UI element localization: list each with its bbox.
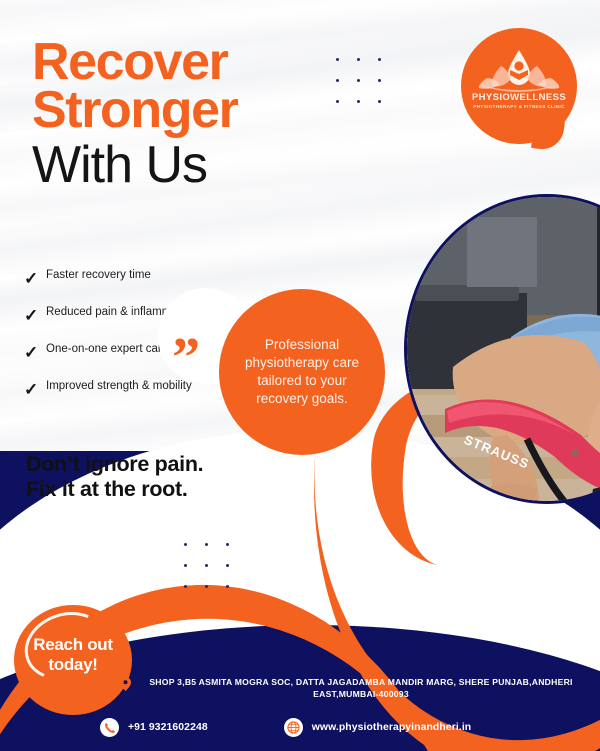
phone-contact[interactable]: +91 9321602248	[100, 718, 208, 737]
logo-tagline: PHYSIOTHERAPY & FITNESS CLINIC	[461, 104, 577, 109]
dot	[357, 79, 360, 82]
phone-icon	[100, 718, 119, 737]
check-icon: ✓	[24, 305, 46, 324]
check-icon: ✓	[24, 268, 46, 287]
dot-grid-top	[336, 58, 381, 103]
tagline-block: Don’t ignore pain. Fix it at the root.	[26, 452, 203, 503]
headline-block: Recover Stronger With Us	[32, 38, 362, 192]
dot	[205, 564, 208, 567]
dot	[336, 79, 339, 82]
dot	[226, 564, 229, 567]
phone-number: +91 9321602248	[128, 722, 208, 733]
benefit-label: Improved strength & mobility	[46, 379, 192, 393]
lotus-person-icon	[461, 28, 577, 144]
logo-badge: PHYSIOWELLNESS PHYSIOTHERAPY & FITNESS C…	[461, 28, 577, 144]
dot	[357, 100, 360, 103]
website-url: www.physiotherapyinandheri.in	[312, 722, 472, 733]
poster-root: Recover Stronger With Us PHYSIOWELLNESS …	[0, 0, 600, 751]
quotation-mark-icon: ”	[172, 330, 200, 386]
dot	[184, 564, 187, 567]
address-text: SHOP 3,B5 ASMITA MOGRA SOC, DATTA JAGADA…	[136, 676, 586, 701]
tagline-line-1: Don’t ignore pain.	[26, 452, 203, 477]
dot	[205, 585, 208, 588]
dot	[378, 58, 381, 61]
benefit-label: One-on-one expert care	[46, 342, 168, 356]
check-icon: ✓	[24, 342, 46, 361]
location-pin-icon	[120, 676, 136, 696]
headline-line-3: With Us	[32, 139, 362, 192]
dot	[226, 585, 229, 588]
dot	[357, 58, 360, 61]
globe-icon	[284, 718, 303, 737]
cta-text: Reach out today!	[14, 635, 132, 676]
dot	[205, 543, 208, 546]
tagline-line-2: Fix it at the root.	[26, 477, 203, 502]
dot	[184, 543, 187, 546]
dot	[378, 100, 381, 103]
website-contact[interactable]: www.physiotherapyinandheri.in	[284, 718, 472, 737]
list-item: ✓ Faster recovery time	[24, 268, 199, 287]
dot	[226, 543, 229, 546]
cta-bubble[interactable]: Reach out today!	[14, 605, 132, 715]
quote-text: Professional physiotherapy care tailored…	[232, 336, 372, 408]
address-row: SHOP 3,B5 ASMITA MOGRA SOC, DATTA JAGADA…	[120, 676, 586, 701]
dot-grid-middle	[184, 543, 229, 588]
benefit-label: Faster recovery time	[46, 268, 151, 282]
headline-line-1: Recover	[32, 38, 362, 86]
quote-circle: Professional physiotherapy care tailored…	[219, 289, 385, 455]
headline-line-2: Stronger	[32, 86, 362, 134]
contact-row: +91 9321602248 www.physiotherapyinandher…	[100, 718, 600, 737]
dot	[184, 585, 187, 588]
cta-line-1: Reach out	[14, 635, 132, 655]
dot	[336, 100, 339, 103]
cta-line-2: today!	[14, 655, 132, 675]
dot	[378, 79, 381, 82]
check-icon: ✓	[24, 379, 46, 398]
logo-name: PHYSIOWELLNESS	[461, 92, 577, 103]
dot	[336, 58, 339, 61]
